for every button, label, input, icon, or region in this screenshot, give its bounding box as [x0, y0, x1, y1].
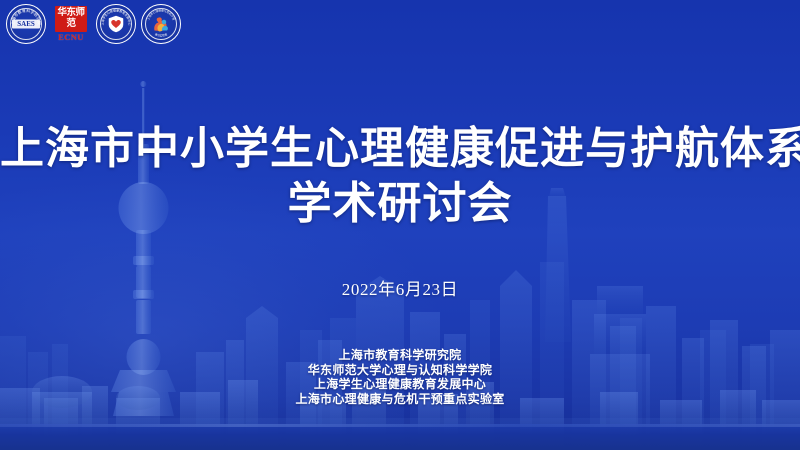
student-center-seal-icon: 上海学生心理健康教育发展中心: [96, 4, 136, 44]
human-figures-icon: [152, 16, 171, 33]
ecnu-glyph-text: 华东师范: [57, 8, 85, 30]
logo-saes: 上海市教育科学研究院 SAES: [6, 4, 46, 44]
saes-seal-icon: 上海市教育科学研究院 SAES: [6, 4, 46, 44]
crisis-lab-seal-icon: 上海市心理健康与危机干预 重点实验室: [141, 4, 181, 44]
ecnu-red-block-icon: 华东师范: [55, 6, 87, 32]
logo-bar: 上海市教育科学研究院 SAES 华东师范 ECNU: [6, 4, 181, 44]
ecnu-wordmark: ECNU: [51, 32, 91, 42]
presentation-title-slide: 上海市教育科学研究院 SAES 华东师范 ECNU: [0, 0, 800, 450]
svg-text:重点实验室: 重点实验室: [154, 32, 168, 38]
shield-heart-icon: [109, 16, 124, 33]
saes-acronym: SAES: [17, 20, 35, 28]
logo-ecnu: 华东师范 ECNU: [51, 4, 91, 44]
logo-crisis-intervention-lab: 上海市心理健康与危机干预 重点实验室: [141, 4, 181, 44]
sky-background: [0, 0, 800, 450]
logo-student-mental-health-center: 上海学生心理健康教育发展中心: [96, 4, 136, 44]
